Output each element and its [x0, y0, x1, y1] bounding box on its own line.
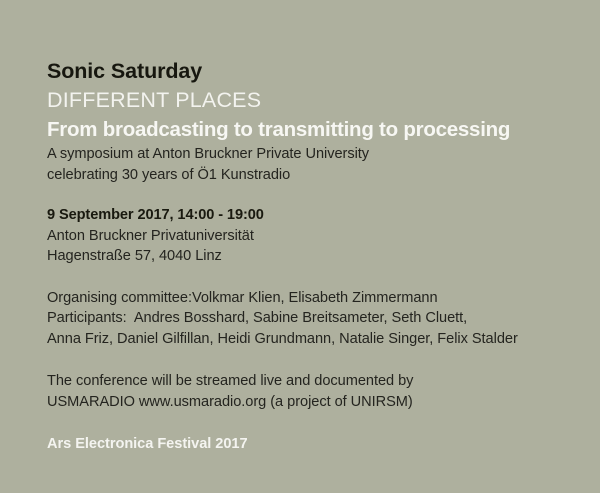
event-subtitle: DIFFERENT PLACES [47, 86, 577, 115]
streaming-line-1: The conference will be streamed live and… [47, 371, 577, 392]
event-datetime: 9 September 2017, 14:00 - 19:00 [47, 205, 577, 226]
spacer-intro-details [47, 185, 577, 205]
people-block: Organising committee:Volkmar Klien, Elis… [47, 288, 577, 350]
organising-committee: Organising committee:Volkmar Klien, Elis… [47, 288, 577, 309]
details-block: 9 September 2017, 14:00 - 19:00 Anton Br… [47, 205, 577, 267]
festival-block: Ars Electronica Festival 2017 [47, 434, 577, 455]
streaming-block: The conference will be streamed live and… [47, 371, 577, 412]
festival-name: Ars Electronica Festival 2017 [47, 434, 577, 455]
intro-line-2: celebrating 30 years of Ö1 Kunstradio [47, 165, 577, 186]
spacer-details-people [47, 267, 577, 288]
event-venue: Anton Bruckner Privatuniversität [47, 226, 577, 247]
participants-line-2: Anna Friz, Daniel Gilfillan, Heidi Grund… [47, 329, 577, 350]
intro-line-1: A symposium at Anton Bruckner Private Un… [47, 144, 577, 165]
streaming-line-2: USMARADIO www.usmaradio.org (a project o… [47, 392, 577, 413]
event-address: Hagenstraße 57, 4040 Linz [47, 246, 577, 267]
participants-line-1: Participants: Andres Bosshard, Sabine Br… [47, 308, 577, 329]
poster-canvas: Sonic Saturday DIFFERENT PLACES From bro… [0, 0, 600, 493]
spacer-streaming-festival [47, 412, 577, 434]
event-title: Sonic Saturday [47, 57, 577, 85]
title-block: Sonic Saturday DIFFERENT PLACES From bro… [47, 57, 577, 144]
intro-block: A symposium at Anton Bruckner Private Un… [47, 144, 577, 185]
spacer-people-streaming [47, 349, 577, 371]
event-tagline: From broadcasting to transmitting to pro… [47, 115, 577, 144]
poster-content: Sonic Saturday DIFFERENT PLACES From bro… [47, 57, 577, 455]
